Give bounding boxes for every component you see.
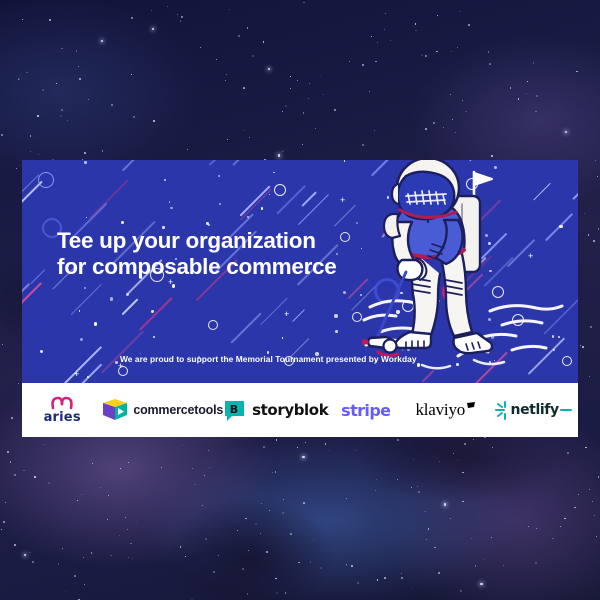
logo-stripe[interactable]: stripe bbox=[328, 383, 403, 437]
banner-subline: We are proud to support the Memorial Tou… bbox=[120, 354, 417, 364]
logo-stripe-label: stripe bbox=[341, 401, 390, 420]
logo-commercetools-label: commercetools bbox=[133, 403, 223, 417]
logo-storyblok[interactable]: B storyblok bbox=[223, 383, 328, 437]
logo-klaviyo-label: klaviyo bbox=[415, 400, 465, 420]
logo-storyblok-label: storyblok bbox=[252, 401, 328, 419]
svg-text:B: B bbox=[230, 403, 238, 416]
square-mark-icon bbox=[467, 402, 475, 410]
logo-aries-label: aries bbox=[44, 411, 81, 424]
logo-aries[interactable]: aries bbox=[22, 383, 102, 437]
astronaut-golfer-illustration bbox=[362, 160, 578, 383]
sparkle-icon bbox=[494, 399, 510, 421]
netlify-dash-icon bbox=[560, 405, 572, 415]
speech-bubble-b-icon: B bbox=[223, 399, 246, 422]
ram-horns-icon bbox=[49, 396, 75, 410]
logo-klaviyo[interactable]: klaviyo bbox=[403, 383, 487, 437]
banner-top-section: ++++++ bbox=[22, 160, 578, 383]
logo-netlify-label: netlify bbox=[511, 402, 559, 418]
logo-netlify[interactable]: netlify bbox=[487, 383, 578, 437]
logo-commercetools[interactable]: commercetools bbox=[102, 383, 223, 437]
banner-headline: Tee up your organization for composable … bbox=[57, 228, 336, 280]
partner-logo-bar: aries commercetools B storyblo bbox=[22, 383, 578, 437]
screenshot-root: ++++++ bbox=[0, 0, 600, 600]
promo-banner[interactable]: ++++++ bbox=[22, 160, 578, 437]
cube-icon bbox=[102, 398, 128, 422]
